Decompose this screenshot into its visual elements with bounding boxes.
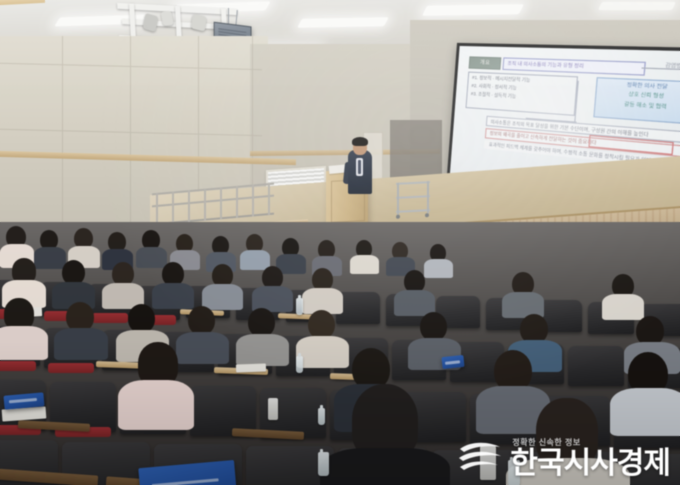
auditorium-seat[interactable] [622,454,680,485]
water-bottle [318,408,325,425]
insulated-tumbler [268,398,278,420]
metal-utility-cart [396,181,430,219]
cart-wheel [396,215,400,219]
cart-wheel [425,213,429,217]
slide-title-bar: 조직 내 의사소통의 기능과 유형 정리 [503,58,647,76]
stage-spotlight-icon [160,11,173,26]
cart-leg [397,183,399,215]
presenter-tie [358,160,361,174]
slide-section-chip: 개요 [469,56,502,69]
fluorescent-light-panel [297,17,389,27]
water-bottle [296,356,303,373]
fluorescent-light-panel [422,4,524,16]
cart-shelf [396,195,430,198]
blue-program-booklet[interactable] [441,355,464,369]
audience-area [0,222,680,485]
stage-spotlight-icon [191,14,207,32]
presenter-hair [352,137,368,146]
paper-handout [236,363,266,372]
slide-title-right-label: 감염병 [665,63,680,70]
cart-leg [427,181,429,213]
water-bottle [508,460,520,485]
fluorescent-light-panel [598,2,676,10]
auditorium-seat[interactable] [568,346,624,386]
insulated-tumbler [480,446,496,480]
cart-shelf [396,209,430,212]
cart-shelf [396,181,430,184]
slide-numbered-list: #1. 정보적 · 메시지전달적 기능 #2. 사회적 · 정서적 기능 #3.… [466,72,579,116]
railing-bar [152,195,274,207]
slide-callout-line: 갈등 해소 및 협력 [599,99,680,111]
stage-spotlight-icon [143,13,159,32]
water-bottle [296,298,303,315]
slide-blue-callout-box: 정확한 의사 전달 상호 신뢰 형성 갈등 해소 및 협력 [594,77,680,125]
water-bottle [318,452,329,476]
auditorium-photo: 개요 조직 내 의사소통의 기능과 유형 정리 감염병 #1. 정보적 · 메시… [0,0,680,485]
